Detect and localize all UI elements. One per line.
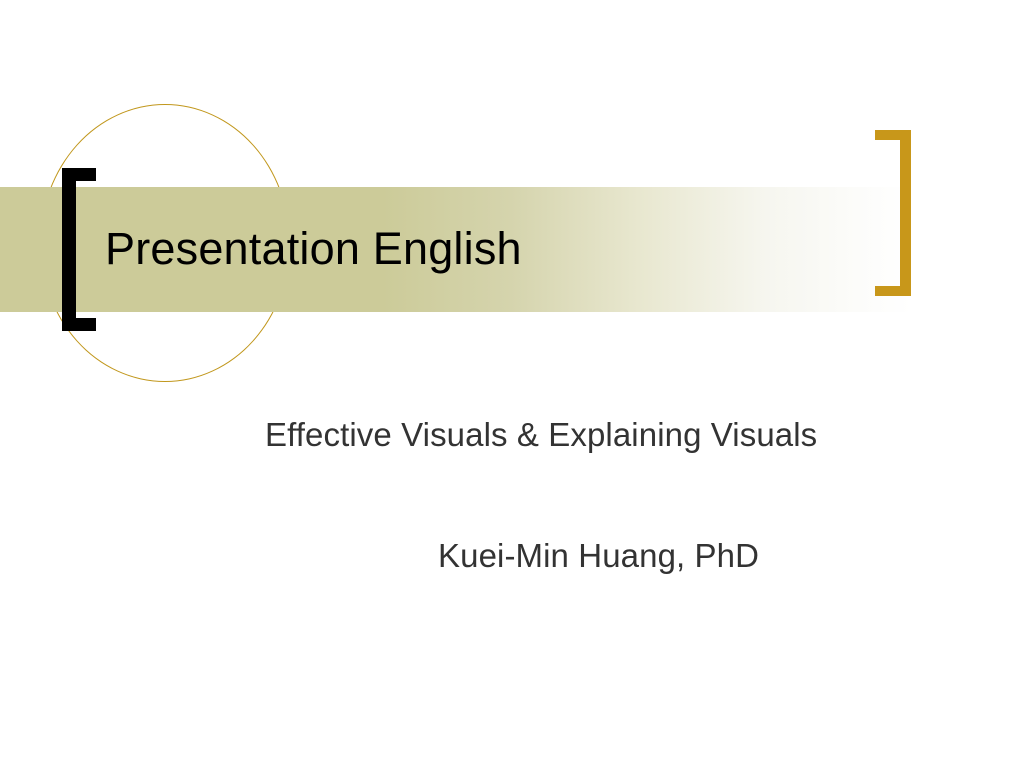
subtitle-block: Effective Visuals & Explaining Visuals — [265, 411, 875, 459]
close-bracket-icon — [875, 130, 911, 296]
slide-subtitle: Effective Visuals & Explaining Visuals — [265, 411, 875, 459]
open-bracket-icon — [62, 168, 96, 331]
page-title: Presentation English — [105, 221, 522, 277]
author-name: Kuei-Min Huang, PhD — [438, 534, 759, 578]
presentation-slide: Presentation English Effective Visuals &… — [0, 0, 1024, 768]
